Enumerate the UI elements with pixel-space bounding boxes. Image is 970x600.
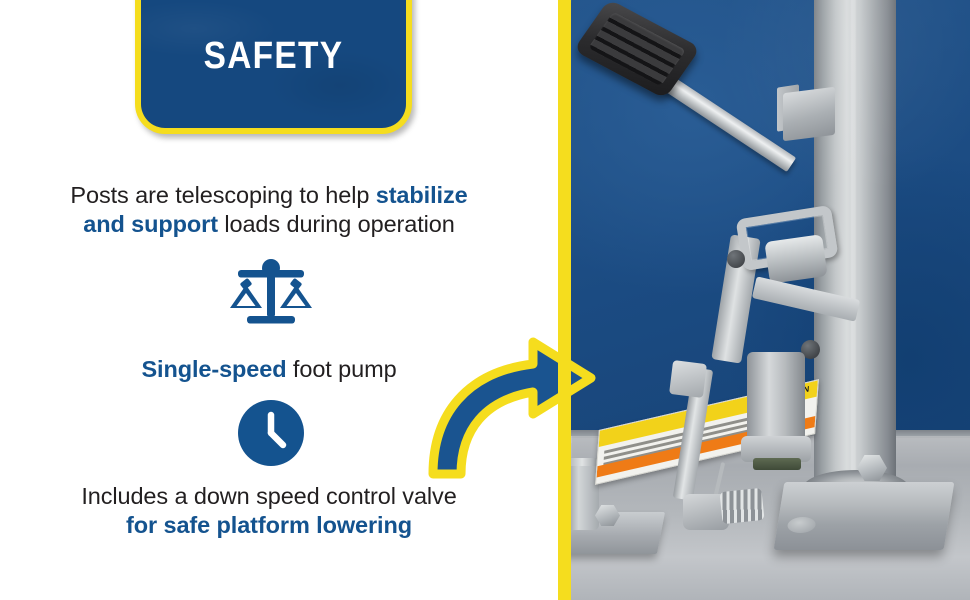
safety-banner: SAFETY <box>135 0 412 134</box>
feature2-plain: foot pump <box>287 356 397 382</box>
product-photo: ATTENTION <box>571 0 970 600</box>
release-lever-head <box>669 360 707 398</box>
cylinder-seal <box>753 458 801 470</box>
feature-text-down-speed-valve: Includes a down speed control valve for … <box>24 482 514 540</box>
linkage-pin <box>727 250 745 268</box>
infographic-root: SAFETY Posts are telescoping to help sta… <box>0 0 970 600</box>
return-spring <box>719 488 764 524</box>
feature1-line2-plain: loads during operation <box>218 211 455 237</box>
feature-text-stabilize: Posts are telescoping to help stabilize … <box>24 181 514 239</box>
post-bracket <box>783 87 835 141</box>
feature3-line1: Includes a down speed control valve <box>81 483 456 509</box>
feature2-bold: Single-speed <box>141 356 286 382</box>
feature1-line2-bold: and support <box>83 211 218 237</box>
left-content-panel: SAFETY Posts are telescoping to help sta… <box>0 0 558 600</box>
post-base-plate <box>774 482 955 550</box>
clock-icon <box>238 400 304 466</box>
feature1-line1-plain: Posts are telescoping to help <box>70 182 375 208</box>
feature3-line2-bold: for safe platform lowering <box>126 512 412 538</box>
banner-title: SAFETY <box>157 37 390 75</box>
feature1-line1-bold: stabilize <box>376 182 468 208</box>
balance-scales-icon <box>228 256 314 328</box>
linkage-roller <box>764 234 827 284</box>
yellow-divider-bar <box>558 0 571 600</box>
curved-callout-arrow <box>415 322 600 484</box>
